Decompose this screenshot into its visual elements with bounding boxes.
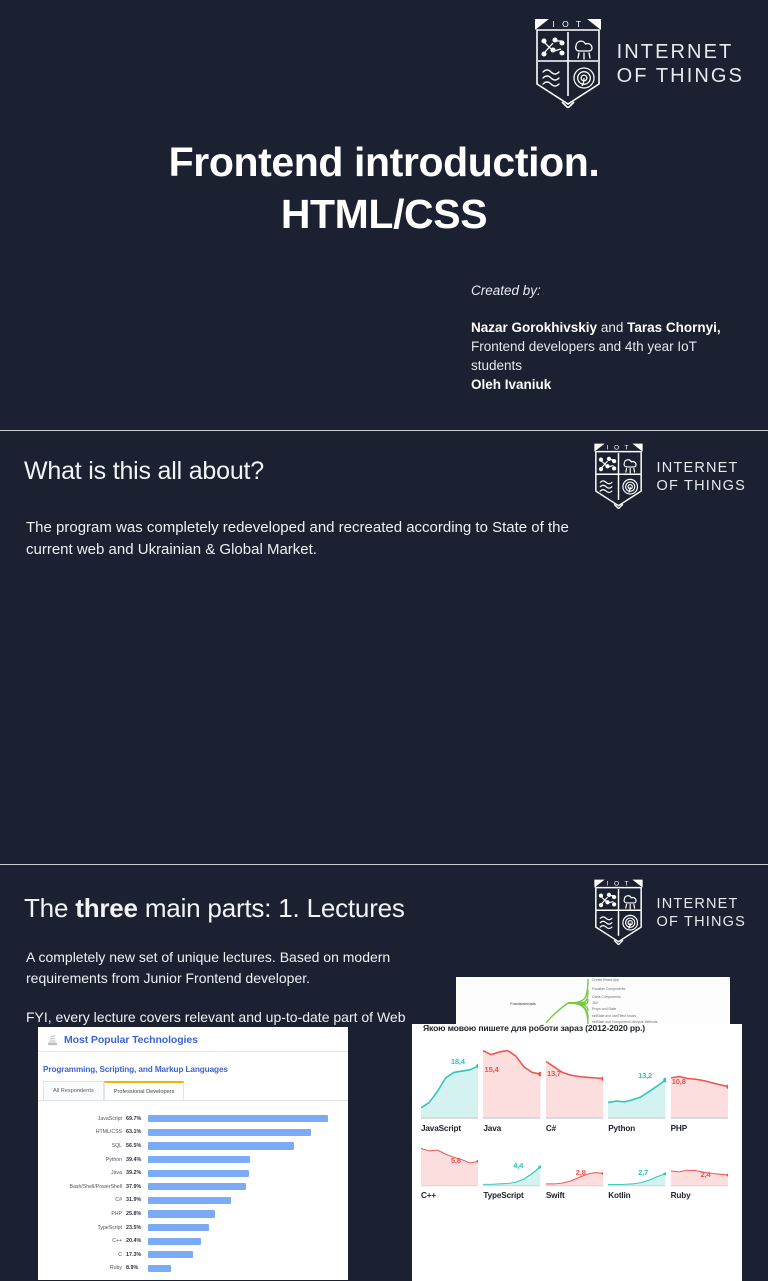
dou-language-chart: Якою мовою пишете для роботи зараз (2012… <box>412 1012 742 1281</box>
svg-text:JSX: JSX <box>592 1001 599 1005</box>
so-bar-value: 20.4% <box>126 1238 148 1244</box>
svg-text:setState and useEffect hooks: setState and useEffect hooks <box>592 1014 636 1018</box>
brand-line-2: OF THINGS <box>617 65 744 89</box>
so-bar-fill <box>148 1115 328 1122</box>
lecture-mindmap-image: Create React App Function Components Cla… <box>456 977 730 1024</box>
slide2-body: The program was completely redeveloped a… <box>26 517 586 560</box>
so-bar-value: 37.9% <box>126 1184 148 1190</box>
so-bar-track <box>148 1170 348 1177</box>
iot-logo-small-slide3: I O T <box>590 877 746 950</box>
dou-sparkline-cell: 13,7C# <box>546 1042 608 1133</box>
so-chart-title: Most Popular Technologies <box>64 1034 198 1046</box>
dou-sparkline-cell: 5,8C++ <box>421 1141 483 1200</box>
so-bar-row: C17.3% <box>38 1248 348 1262</box>
dou-sparkline-cell: 13,2Python <box>608 1042 670 1133</box>
so-bar-label: Bash/Shell/PowerShell <box>38 1184 126 1190</box>
so-bar-row: JavaScript69.7% <box>38 1112 348 1126</box>
dou-sparkline-cell: 18,4JavaScript <box>421 1042 483 1133</box>
author-name-1: Nazar Gorokhivskiy <box>471 320 597 335</box>
stackoverflow-chart: Most Popular Technologies Programming, S… <box>38 1027 348 1280</box>
brand-line-2: OF THINGS <box>657 478 746 495</box>
so-chart-header: Most Popular Technologies <box>38 1027 348 1052</box>
byline-block: Created by: Nazar Gorokhivskiy and Taras… <box>471 283 751 395</box>
slide3-paragraph-1: A completely new set of unique lectures.… <box>26 947 446 989</box>
svg-text:Function Components: Function Components <box>592 987 625 991</box>
dou-sparkline-cell: 15,4Java <box>483 1042 545 1133</box>
so-bar-label: JavaScript <box>38 1116 126 1122</box>
so-bar-label: Java <box>38 1170 126 1176</box>
so-bar-track <box>148 1251 348 1258</box>
so-bar-track <box>148 1224 348 1231</box>
so-bar-track <box>148 1156 348 1163</box>
dou-sparkline-cell: 2,8Swift <box>546 1141 608 1200</box>
so-bar-track <box>148 1210 348 1217</box>
so-bar-value: 23.5% <box>126 1225 148 1231</box>
dou-spark-python: 13,2 <box>608 1042 665 1120</box>
so-bar-value: 69.7% <box>126 1116 148 1122</box>
dou-spark-java: 15,4 <box>483 1042 540 1120</box>
so-tabs-divider <box>38 1100 348 1101</box>
svg-text:Create React App: Create React App <box>592 978 619 982</box>
dou-end-value: 5,8 <box>451 1156 461 1165</box>
so-bar-track <box>148 1265 348 1272</box>
so-bar-row: SQL56.5% <box>38 1139 348 1153</box>
so-bar-row: TypeScript23.5% <box>38 1221 348 1235</box>
so-bar-fill <box>148 1265 171 1272</box>
svg-text:Class Components: Class Components <box>592 995 621 999</box>
dou-spark-php: 10,8 <box>671 1042 728 1120</box>
so-tab-all-respondents[interactable]: All Respondents <box>43 1081 104 1100</box>
so-bar-track <box>148 1115 348 1122</box>
dou-end-value: 18,4 <box>451 1057 465 1066</box>
iot-shield-icon: I O T <box>590 877 647 950</box>
dou-spark-kotlin: 2,7 <box>608 1141 665 1187</box>
slide3-heading-post: main parts: 1. Lectures <box>138 893 405 923</box>
slide3-heading: The three main parts: 1. Lectures <box>24 893 405 924</box>
so-bar-label: C <box>38 1252 126 1258</box>
svg-text:I O T: I O T <box>552 19 583 29</box>
dou-spark-c#: 13,7 <box>546 1042 603 1120</box>
brand-line-1: INTERNET <box>657 460 746 477</box>
brand-line-1: INTERNET <box>657 896 746 913</box>
so-bar-value: 56.5% <box>126 1143 148 1149</box>
slide2-heading: What is this all about? <box>24 457 264 486</box>
so-chart-tabs[interactable]: All Respondents Professional Developers <box>38 1081 348 1100</box>
so-bar-fill <box>148 1210 215 1217</box>
so-bar-track <box>148 1197 348 1204</box>
author-join: and <box>597 320 627 335</box>
dou-series-name: Ruby <box>671 1187 728 1200</box>
dou-end-value: 2,4 <box>700 1170 710 1179</box>
so-bar-rows: JavaScript69.7%HTML/CSS63.1%SQL56.5%Pyth… <box>38 1110 348 1275</box>
so-bar-label: TypeScript <box>38 1225 126 1231</box>
so-bar-row: Java39.2% <box>38 1166 348 1180</box>
iot-logo-large: I O T <box>529 16 744 113</box>
dou-end-value: 2,7 <box>638 1168 648 1177</box>
dou-series-name: Java <box>483 1120 540 1133</box>
dou-sparkline-row-bottom: 5,8C++4,4TypeScript2,8Swift2,7Kotlin2,4R… <box>412 1141 742 1200</box>
dou-series-name: TypeScript <box>483 1187 540 1200</box>
dou-end-value: 13,2 <box>638 1071 652 1080</box>
mindmap-root-label: Fundamentals <box>510 1002 536 1006</box>
dou-sparkline-cell: 10,8PHP <box>671 1042 733 1133</box>
deck-title: Frontend introduction. HTML/CSS <box>0 136 768 241</box>
author-name-2: Taras Chornyi, <box>627 320 721 335</box>
so-bar-value: 17.3% <box>126 1252 148 1258</box>
so-bar-row: PHP25.8% <box>38 1207 348 1221</box>
so-bar-row: Ruby8.9% <box>38 1262 348 1276</box>
so-tab-professional-developers[interactable]: Professional Developers <box>104 1081 185 1100</box>
dou-series-name: PHP <box>671 1120 728 1133</box>
so-bar-value: 39.2% <box>126 1170 148 1176</box>
so-bar-track <box>148 1142 348 1149</box>
so-bar-fill <box>148 1238 201 1245</box>
so-bar-label: Ruby <box>38 1265 126 1271</box>
dou-sparkline-cell: 4,4TypeScript <box>483 1141 545 1200</box>
dou-sparkline-row-top: 18,4JavaScript15,4Java13,7C#13,2Python10… <box>412 1042 742 1133</box>
so-bar-fill <box>148 1183 246 1190</box>
iot-shield-icon: I O T <box>529 16 607 113</box>
so-bar-fill <box>148 1156 250 1163</box>
so-bar-fill <box>148 1142 294 1149</box>
svg-text:I O T: I O T <box>606 880 630 887</box>
so-chart-subtitle: Programming, Scripting, and Markup Langu… <box>38 1052 348 1081</box>
so-bar-value: 25.8% <box>126 1211 148 1217</box>
so-bar-fill <box>148 1251 193 1258</box>
so-bar-track <box>148 1238 348 1245</box>
svg-text:Props and State: Props and State <box>592 1007 616 1011</box>
svg-text:setState and Component Lifecyc: setState and Component Lifecycle Methods <box>592 1020 658 1024</box>
slide3-paragraph-2: FYI, every lecture covers relevant and u… <box>26 1007 446 1028</box>
brand-line-1: INTERNET <box>617 41 744 65</box>
dou-spark-typescript: 4,4 <box>483 1141 540 1187</box>
dou-end-value: 10,8 <box>672 1077 686 1086</box>
dou-series-name: C# <box>546 1120 603 1133</box>
so-bar-value: 39.4% <box>126 1157 148 1163</box>
dou-series-name: Kotlin <box>608 1187 665 1200</box>
slide3-heading-bold: three <box>75 893 138 923</box>
dou-spark-ruby: 2,4 <box>671 1141 728 1187</box>
slide3-heading-pre: The <box>24 893 75 923</box>
dou-series-name: C++ <box>421 1187 478 1200</box>
slide-what-is-this-about: I O T <box>0 430 768 864</box>
dou-sparkline-cell: 2,7Kotlin <box>608 1141 670 1200</box>
svg-text:I O T: I O T <box>606 444 630 451</box>
brand-line-2: OF THINGS <box>657 914 746 931</box>
so-bar-row: Python39.4% <box>38 1153 348 1167</box>
authors-text: Nazar Gorokhivskiy and Taras Chornyi, Fr… <box>471 318 751 395</box>
dou-series-name: Swift <box>546 1187 603 1200</box>
slide-deck: I O T <box>0 0 768 1024</box>
stackoverflow-logo-icon <box>47 1033 58 1046</box>
so-bar-track <box>148 1129 348 1136</box>
iot-logo-small-slide2: I O T <box>590 441 746 514</box>
iot-shield-icon: I O T <box>590 441 647 514</box>
dou-end-value: 15,4 <box>485 1065 499 1074</box>
so-bar-fill <box>148 1170 249 1177</box>
so-bar-label: C++ <box>38 1238 126 1244</box>
created-by-label: Created by: <box>471 283 751 298</box>
so-bar-row: HTML/CSS63.1% <box>38 1126 348 1140</box>
dou-end-value: 4,4 <box>513 1161 523 1170</box>
so-bar-label: HTML/CSS <box>38 1129 126 1135</box>
dou-series-name: Python <box>608 1120 665 1133</box>
so-bar-fill <box>148 1197 231 1204</box>
so-bar-fill <box>148 1129 311 1136</box>
dou-end-value: 2,8 <box>576 1168 586 1177</box>
so-bar-value: 63.1% <box>126 1129 148 1135</box>
dou-spark-swift: 2,8 <box>546 1141 603 1187</box>
so-bar-label: Python <box>38 1157 126 1163</box>
so-bar-value: 31.9% <box>126 1197 148 1203</box>
so-bar-label: SQL <box>38 1143 126 1149</box>
so-bar-label: C# <box>38 1197 126 1203</box>
author-name-3: Oleh Ivaniuk <box>471 377 551 392</box>
dou-spark-c++: 5,8 <box>421 1141 478 1187</box>
dou-sparkline-cell: 2,4Ruby <box>671 1141 733 1200</box>
so-bar-label: PHP <box>38 1211 126 1217</box>
author-role: Frontend developers and 4th year IoT stu… <box>471 339 697 373</box>
so-bar-value: 8.9% <box>126 1265 148 1271</box>
slide-title: I O T <box>0 0 768 430</box>
dou-series-name: JavaScript <box>421 1120 478 1133</box>
so-bar-fill <box>148 1224 209 1231</box>
dou-end-value: 13,7 <box>547 1069 561 1078</box>
dou-spark-javascript: 18,4 <box>421 1042 478 1120</box>
so-bar-row: C#31.9% <box>38 1194 348 1208</box>
so-bar-row: C++20.4% <box>38 1234 348 1248</box>
slide3-body: A completely new set of unique lectures.… <box>26 947 446 1028</box>
so-bar-track <box>148 1183 348 1190</box>
so-bar-row: Bash/Shell/PowerShell37.9% <box>38 1180 348 1194</box>
